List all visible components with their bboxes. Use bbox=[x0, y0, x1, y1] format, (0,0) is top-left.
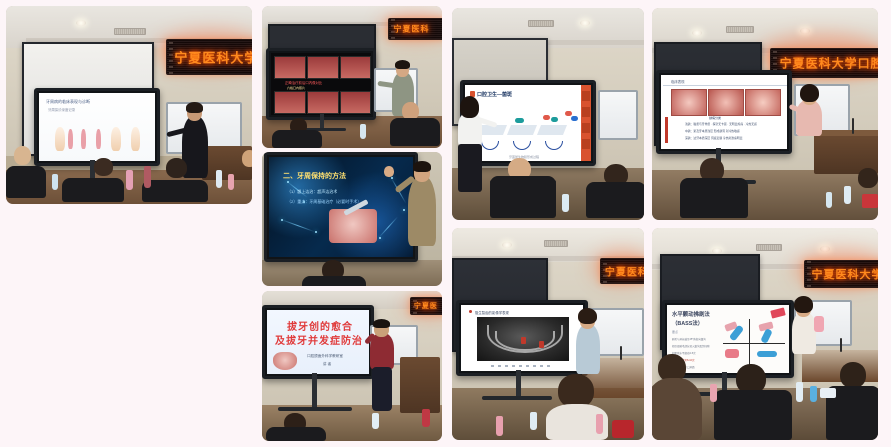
slide-title-line1: 水平颤动拂刷法 bbox=[672, 310, 710, 318]
presenter bbox=[796, 100, 822, 136]
slide-title: 牙周病的临床表现与诊断 bbox=[46, 99, 90, 105]
presenter bbox=[408, 176, 436, 246]
led-banner: 宁夏医 bbox=[410, 297, 442, 315]
display-screen: 拔牙创的愈合 及拔牙并发症防治 口腔颌面外科学教研室 讲 者 bbox=[262, 305, 374, 379]
slide-subtitle: 要点 bbox=[672, 330, 678, 334]
slide-line-2: （2）重点：牙周基础治疗（必要时手术） bbox=[287, 199, 361, 205]
display-screen: 临床表现 龋病分类 浅龋：釉质与牙骨质 · 探针无卡顿 · 无明显疼痛 · 冷热… bbox=[656, 70, 792, 154]
presenter bbox=[576, 324, 600, 374]
photo-collage: 宁夏医科大学 牙周病的临床表现与诊断 牙周探诊深度记录 bbox=[0, 0, 891, 447]
photo-mid-middle[interactable]: 二、牙周保持的方法 （1）龈上洁治：超声洁治术 （2）重点：牙周基础治疗（必要时… bbox=[262, 152, 442, 286]
photo-right-top-right[interactable]: 宁夏医科大学口腔 临床表现 龋病分类 浅龋：釉质与牙骨质 · 探针无卡顿 · 无… bbox=[652, 8, 878, 220]
photo-mid-top[interactable]: 宁夏医科 正畸治疗前后口内像对比 六格口内照片 bbox=[262, 6, 442, 148]
slide-line-1: （1）龈上洁治：超声洁治术 bbox=[287, 189, 337, 195]
slide-author: 讲 者 bbox=[323, 362, 331, 367]
slide-title: 二、牙周保持的方法 bbox=[283, 171, 346, 181]
slide-title: 正畸治疗前后口内像对比 bbox=[285, 80, 322, 85]
slide-section: 龋病分类 bbox=[709, 116, 721, 120]
led-banner: 宁夏医科 bbox=[388, 18, 442, 40]
display-screen: 阻生智齿的影像学表现 bbox=[456, 300, 588, 376]
display-screen: 牙周病的临床表现与诊断 牙周探诊深度记录 bbox=[34, 88, 160, 166]
slide-line-1: 浅龋：釉质与牙骨质 · 探针无卡顿 · 无明显疼痛 · 冷热无感 bbox=[685, 122, 757, 126]
led-banner-text: 宁夏医科大学 bbox=[174, 48, 252, 67]
led-banner-text: 宁夏医科 bbox=[605, 264, 644, 279]
presenter bbox=[370, 333, 394, 369]
display-screen: 正畸治疗前后口内像对比 六格口内照片 bbox=[266, 48, 376, 120]
photo-right-bottom-left[interactable]: 宁夏医科 阻生智齿的影像学表现 bbox=[452, 228, 644, 440]
slide-bullet-1: 刷毛与牙长轴呈45°角指向龈沟 bbox=[672, 337, 706, 341]
led-banner-text: 宁夏医 bbox=[414, 301, 438, 311]
led-banner-text: 宁夏医科大学口腔 bbox=[780, 55, 878, 72]
display-screen: 二、牙周保持的方法 （1）龈上洁治：超声洁治术 （2）重点：牙周基础治疗（必要时… bbox=[264, 152, 418, 262]
slide-line-2: 中龋：累及牙本质浅层 形成龋洞 对冷热敏感 bbox=[685, 129, 740, 133]
led-banner: 宁夏医科 bbox=[600, 258, 644, 284]
slide-title-line1: 拔牙创的愈合 bbox=[287, 318, 353, 333]
slide-subtitle: 六格口内照片 bbox=[287, 86, 305, 90]
slide-title-line2: （BASS法） bbox=[672, 319, 703, 327]
slide-subtitle: 牙周探诊深度记录 bbox=[48, 107, 75, 112]
photo-right-bottom-right[interactable]: 宁夏医科大学 水平颤动拂刷法 （BASS法） 要点 刷毛与牙长轴呈45°角指向龈… bbox=[652, 228, 878, 440]
led-banner: 宁夏医科大学 bbox=[166, 39, 252, 75]
photo-top-left[interactable]: 宁夏医科大学 牙周病的临床表现与诊断 牙周探诊深度记录 bbox=[6, 6, 252, 204]
photo-right-top-left[interactable]: 口腔卫生—菌斑 牙菌斑生物膜形成过程 bbox=[452, 8, 644, 220]
slide-title: 临床表现 bbox=[671, 79, 685, 84]
photo-mid-bottom[interactable]: 宁夏医 拔牙创的愈合 及拔牙并发症防治 口腔颌面外科学教研室 讲 者 bbox=[262, 291, 442, 441]
panoramic-xray bbox=[477, 317, 569, 361]
led-banner: 宁夏医科大学 bbox=[804, 260, 878, 288]
presenter bbox=[792, 312, 816, 354]
led-banner-text: 宁夏医科大学 bbox=[812, 266, 878, 282]
slide-title-line2: 及拔牙并发症防治 bbox=[275, 332, 363, 347]
slide-line-3: 深龋：达牙本质深层 洞底近髓 冷热刺激痛明显 bbox=[685, 136, 743, 140]
slide-subtitle: 口腔颌面外科学教研室 bbox=[307, 354, 343, 359]
led-banner-text: 宁夏医科 bbox=[393, 24, 429, 35]
slide-bullet-2: 轻压使刷毛部分进入龈沟及邻间隙 bbox=[672, 344, 710, 348]
slide-title: 阻生智齿的影像学表现 bbox=[475, 310, 509, 315]
slide-title: 口腔卫生—菌斑 bbox=[477, 91, 512, 98]
